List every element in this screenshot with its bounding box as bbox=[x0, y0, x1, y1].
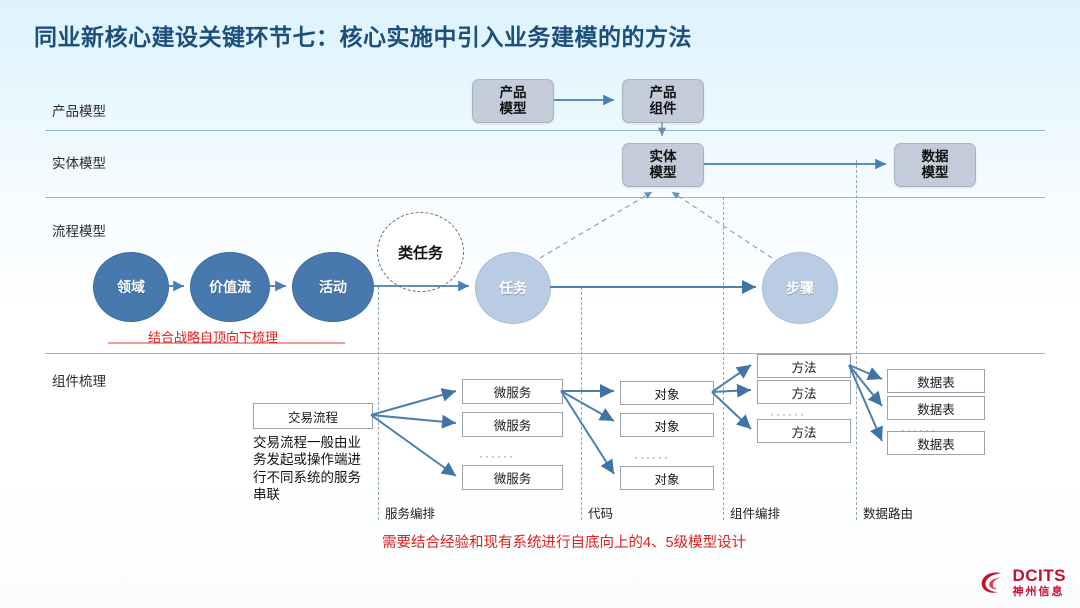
box-entity-model-line1: 实体 bbox=[650, 149, 677, 165]
ellipsis-objects: ······ bbox=[634, 450, 670, 464]
box-data-table-2[interactable]: 数据表 bbox=[887, 396, 985, 420]
logo: DCITS 神州信息 bbox=[978, 567, 1067, 598]
box-data-model[interactable]: 数据 模型 bbox=[894, 143, 976, 187]
box-product-model-line2: 模型 bbox=[500, 101, 527, 117]
column-divider-1 bbox=[378, 287, 379, 520]
box-product-component[interactable]: 产品 组件 bbox=[622, 79, 704, 123]
box-method-2[interactable]: 方法 bbox=[757, 380, 851, 404]
page-title: 同业新核心建设关键环节七：核心实施中引入业务建模的的方法 bbox=[34, 18, 692, 52]
box-data-model-line2: 模型 bbox=[922, 165, 949, 181]
circle-value-stream[interactable]: 价值流 bbox=[190, 252, 270, 322]
box-data-table-3[interactable]: 数据表 bbox=[887, 431, 985, 455]
row-separator-3 bbox=[45, 353, 1045, 354]
row-label-process-model: 流程模型 bbox=[52, 220, 106, 240]
box-object-2[interactable]: 对象 bbox=[620, 413, 714, 437]
column-divider-2 bbox=[581, 287, 582, 520]
box-product-component-line2: 组件 bbox=[650, 101, 677, 117]
column-divider-3 bbox=[723, 197, 724, 520]
column-divider-4 bbox=[856, 160, 857, 520]
box-product-model-line1: 产品 bbox=[500, 85, 527, 101]
circle-step[interactable]: 步骤 bbox=[762, 252, 838, 324]
box-microservice-3[interactable]: 微服务 bbox=[462, 465, 563, 490]
circle-task[interactable]: 任务 bbox=[475, 252, 551, 324]
box-trade-flow[interactable]: 交易流程 bbox=[253, 403, 373, 429]
box-product-model[interactable]: 产品 模型 bbox=[472, 79, 554, 123]
note-bottom: 需要结合经验和现有系统进行自底向上的4、5级模型设计 bbox=[382, 531, 746, 552]
box-object-1[interactable]: 对象 bbox=[620, 381, 714, 405]
box-method-1[interactable]: 方法 bbox=[757, 354, 851, 378]
logo-text-en: DCITS bbox=[1013, 567, 1067, 584]
box-entity-model[interactable]: 实体 模型 bbox=[622, 143, 704, 187]
circle-activity[interactable]: 活动 bbox=[292, 252, 374, 322]
row-label-entity-model: 实体模型 bbox=[52, 152, 106, 172]
column-label-component-orchestration: 组件编排 bbox=[730, 503, 780, 522]
circle-class-task[interactable]: 类任务 bbox=[377, 212, 464, 292]
logo-text: DCITS 神州信息 bbox=[1013, 567, 1067, 598]
ellipsis-microservices: ······ bbox=[479, 449, 515, 463]
note-trade-flow-desc: 交易流程一般由业务发起或操作端进行不同系统的服务串联 bbox=[253, 434, 373, 503]
box-entity-model-line2: 模型 bbox=[650, 165, 677, 181]
box-microservice-1[interactable]: 微服务 bbox=[462, 379, 563, 404]
column-label-code: 代码 bbox=[588, 503, 613, 522]
dcits-swirl-icon bbox=[978, 568, 1008, 598]
slide-canvas: 同业新核心建设关键环节七：核心实施中引入业务建模的的方法 产品模型 实体模型 流… bbox=[0, 0, 1080, 608]
box-method-3[interactable]: 方法 bbox=[757, 419, 851, 443]
note-strategy: 结合战略自顶向下梳理 bbox=[148, 327, 278, 346]
row-label-component: 组件梳理 bbox=[52, 370, 106, 390]
box-data-model-line1: 数据 bbox=[922, 149, 949, 165]
row-separator-1 bbox=[45, 130, 1045, 131]
box-object-3[interactable]: 对象 bbox=[620, 466, 714, 490]
row-label-product-model: 产品模型 bbox=[52, 100, 106, 120]
circle-domain[interactable]: 领域 bbox=[93, 252, 169, 322]
row-separator-2 bbox=[45, 197, 1045, 198]
box-data-table-1[interactable]: 数据表 bbox=[887, 369, 985, 393]
column-label-service-orchestration: 服务编排 bbox=[385, 503, 435, 522]
logo-text-cn: 神州信息 bbox=[1013, 587, 1067, 598]
box-microservice-2[interactable]: 微服务 bbox=[462, 412, 563, 437]
box-product-component-line1: 产品 bbox=[650, 85, 677, 101]
column-label-data-routing: 数据路由 bbox=[863, 503, 913, 522]
